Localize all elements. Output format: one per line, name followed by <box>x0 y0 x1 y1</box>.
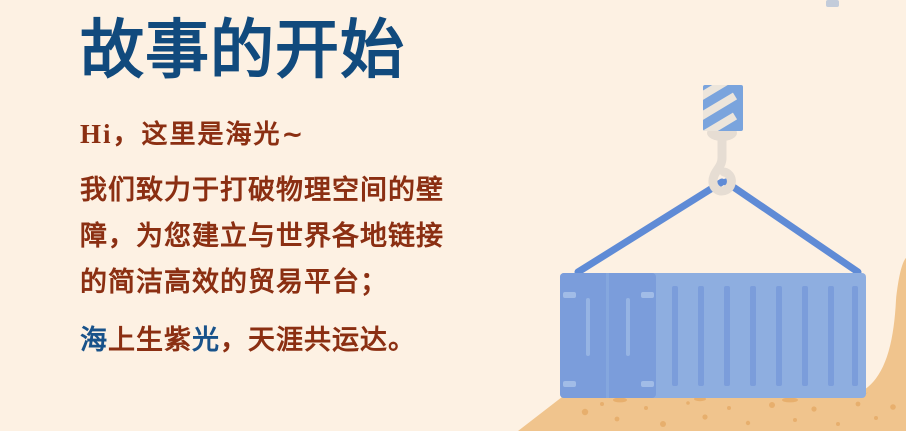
paragraph-line-2: 障，为您建立与世界各地链接 <box>80 214 560 260</box>
slogan-segment-3: 光 <box>192 325 220 356</box>
door-handle-rod-right <box>626 298 630 356</box>
crane-hook-assembly <box>695 76 743 191</box>
hook-collar <box>707 125 737 141</box>
page-title: 故事的开始 <box>80 10 560 85</box>
text-block: 故事的开始 Hi，这里是海光~ 我们致力于打破物理空间的壁 障，为您建立与世界各… <box>80 10 560 364</box>
container-body <box>560 273 866 398</box>
container-doors <box>560 273 656 398</box>
left-cable <box>578 182 722 272</box>
slogan-segment-2: 上生紫 <box>108 325 192 356</box>
door-handle-rod-left <box>586 298 590 356</box>
right-cable <box>726 182 858 272</box>
slogan-segment-1: 海 <box>80 325 108 356</box>
crane-cables <box>578 182 858 272</box>
paragraph-line-3: 的简洁高效的贸易平台； <box>80 260 560 306</box>
cropped-edge-mark <box>826 0 839 7</box>
striped-hoist-block <box>695 76 743 160</box>
crane-hook <box>713 128 731 191</box>
door-latch-tl <box>563 292 576 298</box>
door-latch-tr <box>641 292 654 298</box>
sand-speckles <box>582 274 896 427</box>
paragraph-line-1: 我们致力于打破物理空间的壁 <box>80 168 560 214</box>
greeting-chinese: 这里是海光~ <box>142 120 306 150</box>
slogan-line: 海上生紫光，天涯共运达。 <box>80 318 560 364</box>
greeting-line: Hi，这里是海光~ <box>80 111 560 158</box>
container-door-seam <box>606 273 609 398</box>
door-latch-bl <box>563 381 576 387</box>
poster-canvas: 故事的开始 Hi，这里是海光~ 我们致力于打破物理空间的壁 障，为您建立与世界各… <box>0 0 906 431</box>
sand-ground <box>518 258 906 431</box>
shipping-container <box>560 273 866 398</box>
door-latch-br <box>641 381 654 387</box>
greeting-comma: ， <box>113 119 142 149</box>
sand-ground-group <box>518 258 906 431</box>
greeting-latin: Hi <box>80 119 113 149</box>
slogan-segment-4: ，天涯共运达。 <box>220 325 416 356</box>
body-copy: Hi，这里是海光~ 我们致力于打破物理空间的壁 障，为您建立与世界各地链接 的简… <box>80 111 560 364</box>
container-corrugation <box>672 286 858 386</box>
